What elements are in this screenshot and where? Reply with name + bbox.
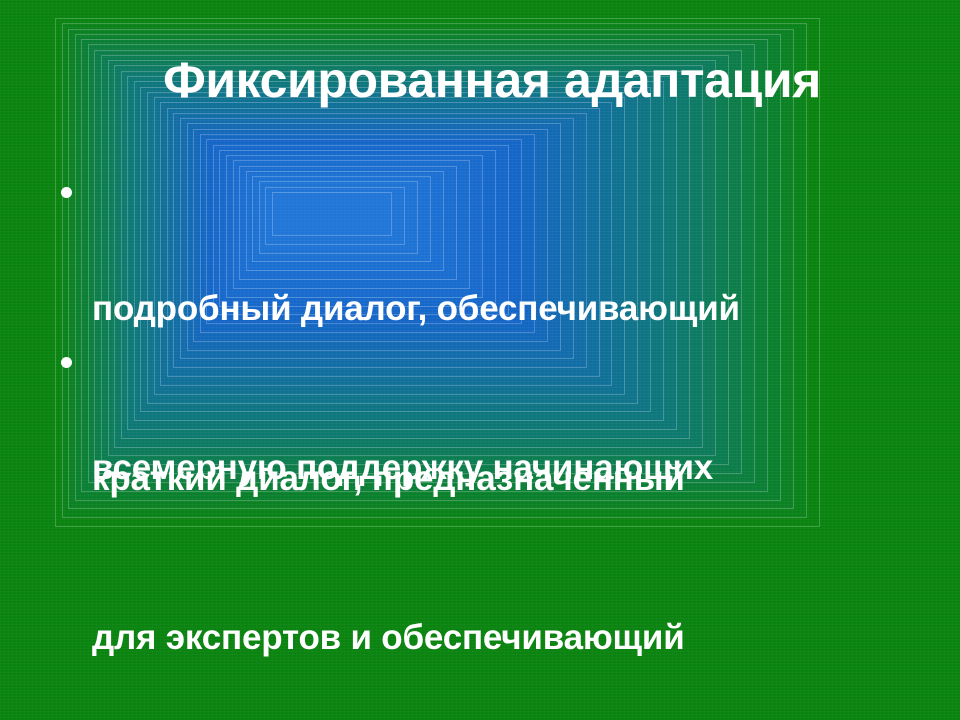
bullet-line: краткий диалог, предназначенный: [92, 452, 928, 505]
bullet-text-2: краткий диалог, предназначенный для эксп…: [92, 346, 928, 720]
slide-content: Фиксированная адаптация подробный диалог…: [0, 0, 960, 720]
bullet-line: подробный диалог, обеспечивающий: [92, 282, 928, 335]
bullet-dot-icon: [61, 357, 72, 368]
bullet-dot-icon: [61, 187, 72, 198]
bullet-row: краткий диалог, предназначенный для эксп…: [48, 346, 928, 720]
page-title: Фиксированная адаптация: [62, 54, 922, 107]
presentation-slide: Фиксированная адаптация подробный диалог…: [0, 0, 960, 720]
bullet-line: для экспертов и обеспечивающий: [92, 611, 928, 664]
bullet-item-2: краткий диалог, предназначенный для эксп…: [48, 346, 928, 720]
